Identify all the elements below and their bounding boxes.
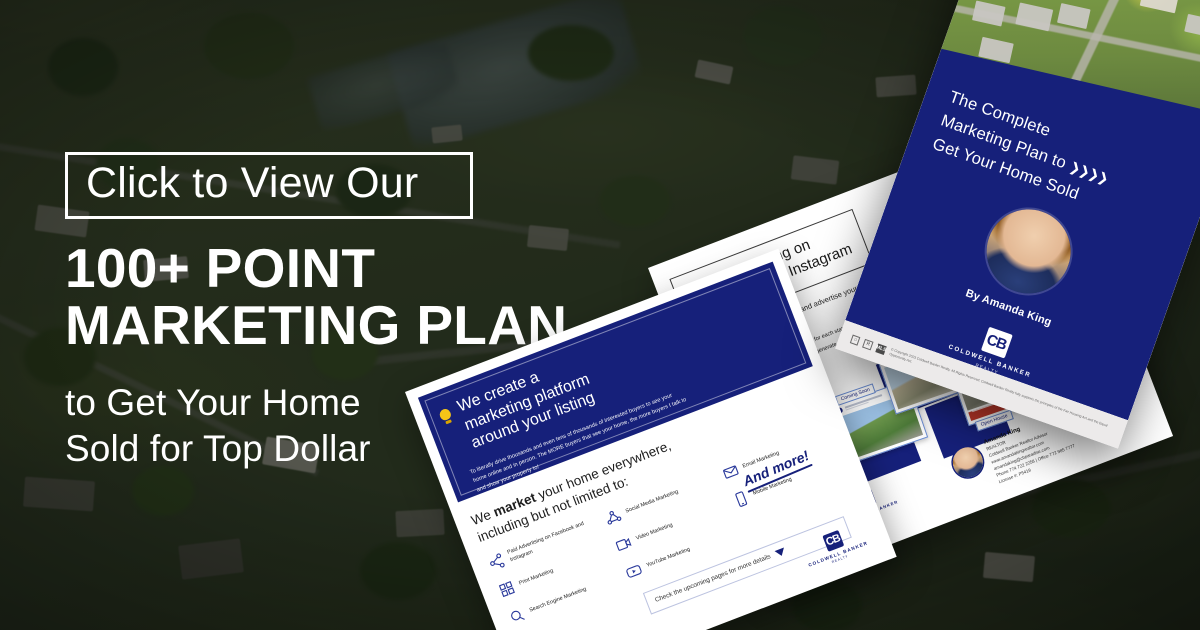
channel-label: Search Engine Marketing (529, 586, 588, 615)
share-network-icon (603, 506, 625, 528)
page-title-line-1: 100+ POINT (65, 240, 625, 297)
triangle-down-icon (775, 547, 787, 557)
share-network-icon (486, 551, 508, 573)
cover-title: The Complete Marketing Plan to ❯❯❯❯ Get … (929, 85, 1191, 239)
envelope-icon (720, 461, 742, 483)
lightbulb-icon (438, 407, 453, 424)
channel-label: Video Marketing (635, 522, 674, 543)
print-grid-icon (496, 578, 518, 600)
channel-label: Print Marketing (518, 568, 554, 588)
click-to-view-label: Click to View Our (86, 161, 452, 206)
video-grid-icon (613, 533, 635, 555)
channel-label: YouTube Marketing (646, 546, 692, 569)
promo-banner[interactable]: Click to View Our 100+ POINT MARKETING P… (0, 0, 1200, 630)
cb-monogram-icon: CB (980, 327, 1012, 359)
equal-housing-icon: ⌂ (850, 334, 861, 345)
click-to-view-cta[interactable]: Click to View Our (65, 152, 473, 219)
search-grid-icon (506, 605, 528, 627)
page-title: 100+ POINT MARKETING PLAN (65, 240, 625, 354)
youtube-play-icon (623, 560, 645, 582)
channel-label: Social Media Marketing (625, 489, 680, 516)
mls-icon: MLS (875, 343, 886, 354)
realtor-icon: R (863, 339, 874, 350)
avatar (975, 198, 1082, 305)
